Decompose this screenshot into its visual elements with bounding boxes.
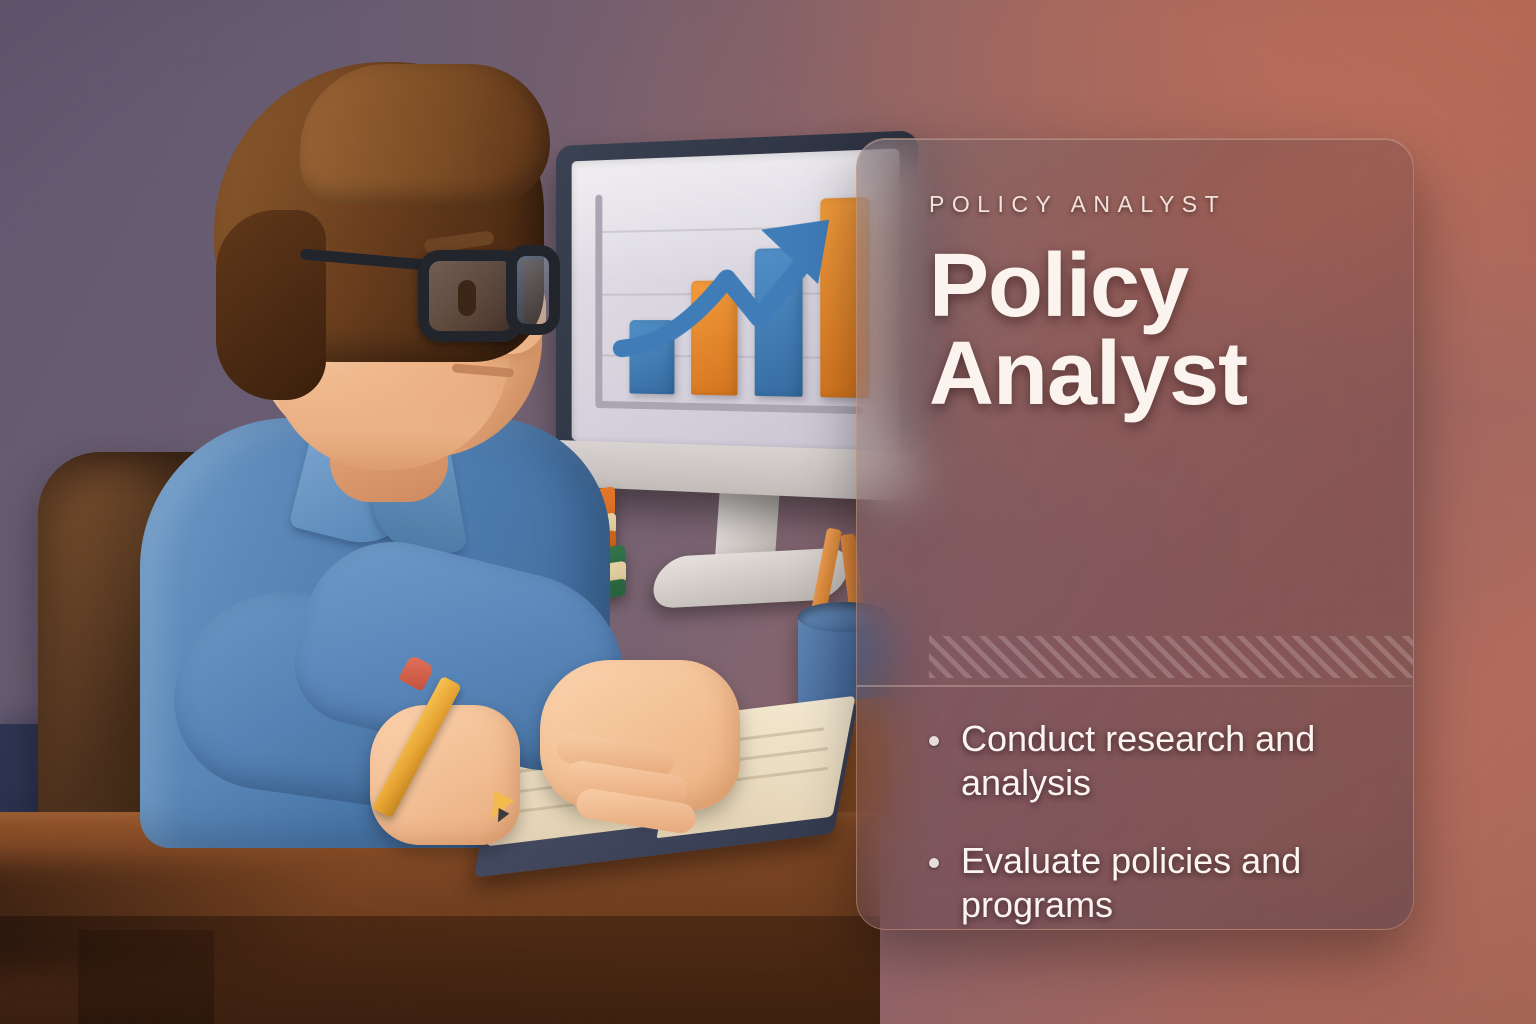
vignette [0, 0, 1536, 1024]
illustration-canvas: POLICY ANALYST Policy Analyst Conduct re… [0, 0, 1536, 1024]
